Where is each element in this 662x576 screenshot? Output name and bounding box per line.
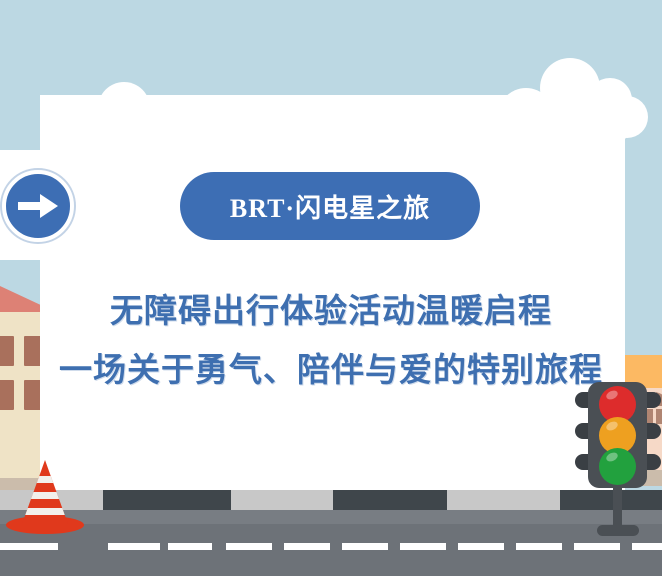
traffic-light-body <box>588 382 647 488</box>
title-badge: BRT·闪电星之旅 <box>180 172 480 240</box>
lane-dash <box>632 543 662 550</box>
lane-dash <box>342 543 388 550</box>
cloud-puff <box>596 110 630 144</box>
curb-block <box>560 490 662 510</box>
lane-dash <box>516 543 562 550</box>
lane-dash <box>458 543 504 550</box>
cloud-puff <box>478 110 518 150</box>
arrow-right-icon <box>2 170 74 242</box>
title-badge-label: BRT·闪电星之旅 <box>230 188 430 225</box>
lane-dash <box>108 543 160 550</box>
curb-block <box>103 490 231 510</box>
traffic-cone-stripe <box>22 508 68 515</box>
headline-secondary: 一场关于勇气、陪伴与爱的特别旅程 <box>0 343 662 391</box>
road-shoulder <box>0 510 662 524</box>
traffic-light-green-lamp <box>599 448 636 485</box>
lane-dash <box>574 543 620 550</box>
curb-block <box>333 490 447 510</box>
poster-canvas: BRT·闪电星之旅 无障碍出行体验活动温暖启程 一场关于勇气、陪伴与爱的特别旅程 <box>0 0 662 576</box>
lane-dash <box>226 543 272 550</box>
cloud-puff <box>130 100 170 140</box>
lane-dash <box>284 543 330 550</box>
lane-dash <box>400 543 446 550</box>
headline-primary: 无障碍出行体验活动温暖启程 <box>0 284 662 332</box>
lane-dash <box>0 543 58 550</box>
lane-dash <box>168 543 212 550</box>
